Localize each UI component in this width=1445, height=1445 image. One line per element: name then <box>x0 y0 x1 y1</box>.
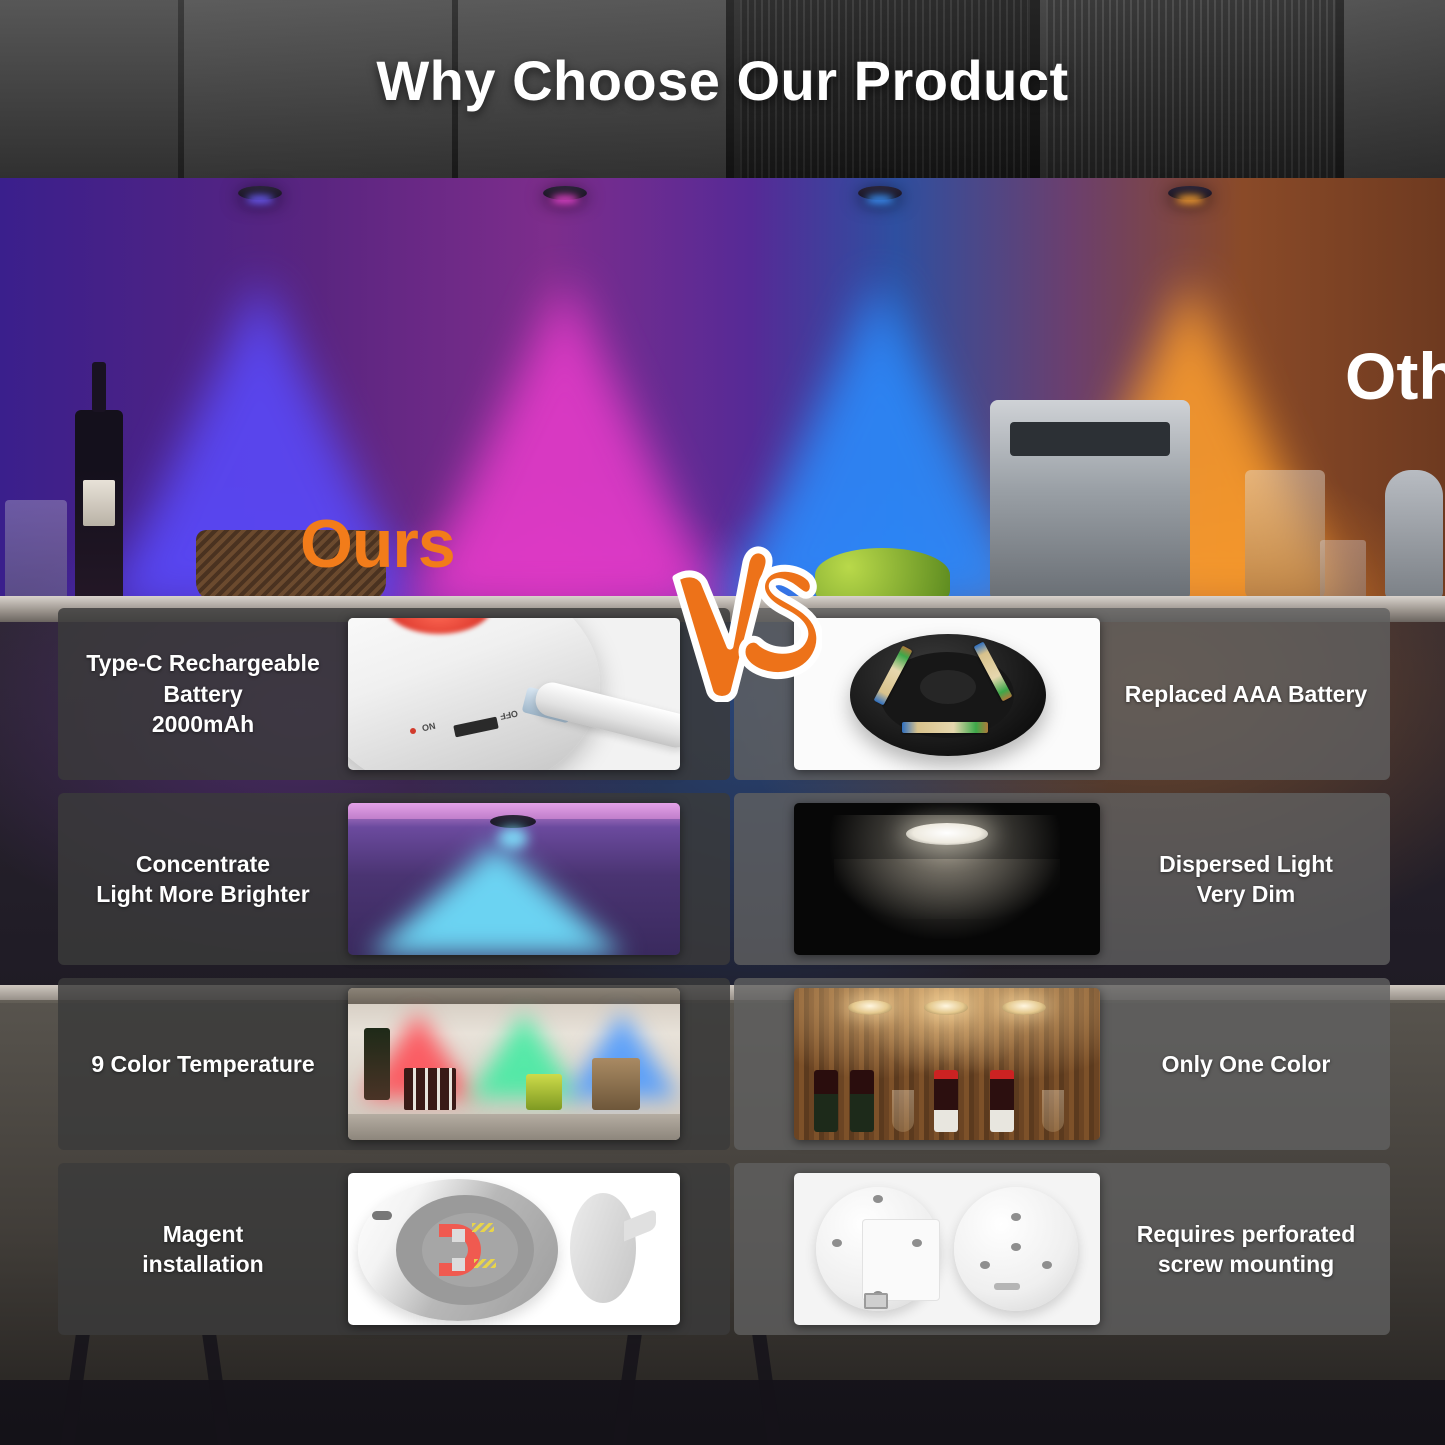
wine-bottle <box>990 1070 1014 1132</box>
screw-mount-bracket <box>954 1187 1078 1311</box>
ours-feature-image <box>348 1173 680 1325</box>
wine-bottle <box>934 1070 958 1132</box>
wine-glass <box>1042 1090 1064 1132</box>
utensil-holder-prop <box>5 500 67 600</box>
comparison-row: Concentrate Light More Brighter Disperse… <box>58 793 1390 965</box>
others-feature-image <box>794 1173 1100 1325</box>
cabinet-top-edge <box>348 988 680 1004</box>
wine-bottle <box>850 1070 874 1132</box>
infographic-stage: Why Choose Our Product Ours Others Type-… <box>0 0 1445 1445</box>
screw-hole <box>1011 1213 1021 1221</box>
comparison-table: Type-C Rechargeable Battery 2000mAh ON O… <box>58 608 1390 1348</box>
cutting-board-prop <box>592 1058 640 1110</box>
others-feature-image <box>794 988 1100 1140</box>
ours-label: Ours <box>300 505 455 583</box>
bottle-label <box>83 480 115 526</box>
dim-floor-spill <box>834 859 1060 919</box>
battery-door <box>862 1219 940 1301</box>
under-cabinet-light-2 <box>543 186 587 200</box>
competitor-downlight <box>906 823 988 845</box>
warm-downlight <box>924 1000 968 1015</box>
coffee-carafe-prop <box>1245 470 1325 600</box>
ours-feature-image: ON OFF <box>348 618 680 770</box>
screw-hole <box>832 1239 842 1247</box>
others-label: Others <box>1345 338 1445 414</box>
under-cabinet-light-1 <box>238 186 282 200</box>
warm-downlight <box>1002 1000 1046 1015</box>
comparison-row: 9 Color Temperature <box>58 978 1390 1150</box>
glassware-prop <box>1320 540 1366 600</box>
ours-feature-image <box>348 803 680 955</box>
adhesive-mounting-plate <box>570 1193 636 1303</box>
concentrated-light-beam <box>368 843 624 955</box>
connector-port <box>864 1293 888 1309</box>
ours-feature-image <box>348 988 680 1140</box>
others-feature-image <box>794 803 1100 955</box>
others-feature-label: Dispersed Light Very Dim <box>1102 793 1390 965</box>
bottle-row-prop <box>404 1068 456 1110</box>
espresso-machine-prop <box>990 400 1190 598</box>
wine-bottle <box>814 1070 838 1132</box>
vs-badge <box>672 542 822 702</box>
fruit-bowl-prop <box>815 548 950 602</box>
wine-glass <box>892 1090 914 1132</box>
ours-feature-label: Magent installation <box>58 1163 348 1335</box>
cabinet-bottom-edge <box>348 1114 680 1140</box>
warm-downlight <box>848 1000 892 1015</box>
plant-vase-prop <box>364 1028 390 1100</box>
others-feature-label: Only One Color <box>1102 978 1390 1150</box>
ours-feature-label: Type-C Rechargeable Battery 2000mAh <box>58 608 348 780</box>
others-feature-label: Replaced AAA Battery <box>1102 608 1390 780</box>
magnetic-field-icon <box>474 1259 496 1268</box>
pickle-jars-prop <box>526 1074 562 1110</box>
screw-hole <box>873 1195 883 1203</box>
green-light-cone <box>468 1012 580 1098</box>
usb-c-port <box>372 1211 392 1220</box>
status-dot <box>410 728 416 734</box>
screw-hole <box>1011 1243 1021 1251</box>
light-back-plate <box>816 1187 940 1311</box>
screw-hole <box>980 1261 990 1269</box>
bracket-slot <box>994 1283 1020 1290</box>
under-cabinet-light-4 <box>1168 186 1212 200</box>
aaa-battery <box>902 722 988 733</box>
compartment-hub <box>920 670 976 704</box>
under-cabinet-light-3 <box>858 186 902 200</box>
others-feature-label: Requires perforated screw mounting <box>1102 1163 1390 1335</box>
magnet-pole-tip <box>452 1229 465 1242</box>
comparison-row: Magent installation <box>58 1163 1390 1335</box>
page-title: Why Choose Our Product <box>0 48 1445 113</box>
others-feature-image <box>794 618 1100 770</box>
wine-bottle-prop <box>75 410 123 600</box>
ours-feature-label: 9 Color Temperature <box>58 978 348 1150</box>
ours-feature-label: Concentrate Light More Brighter <box>58 793 348 965</box>
screw-hole <box>912 1239 922 1247</box>
screw-hole <box>1042 1261 1052 1269</box>
magnetic-field-icon <box>472 1223 494 1232</box>
kettle-prop <box>1385 470 1443 600</box>
magnet-pole-tip <box>452 1258 465 1271</box>
